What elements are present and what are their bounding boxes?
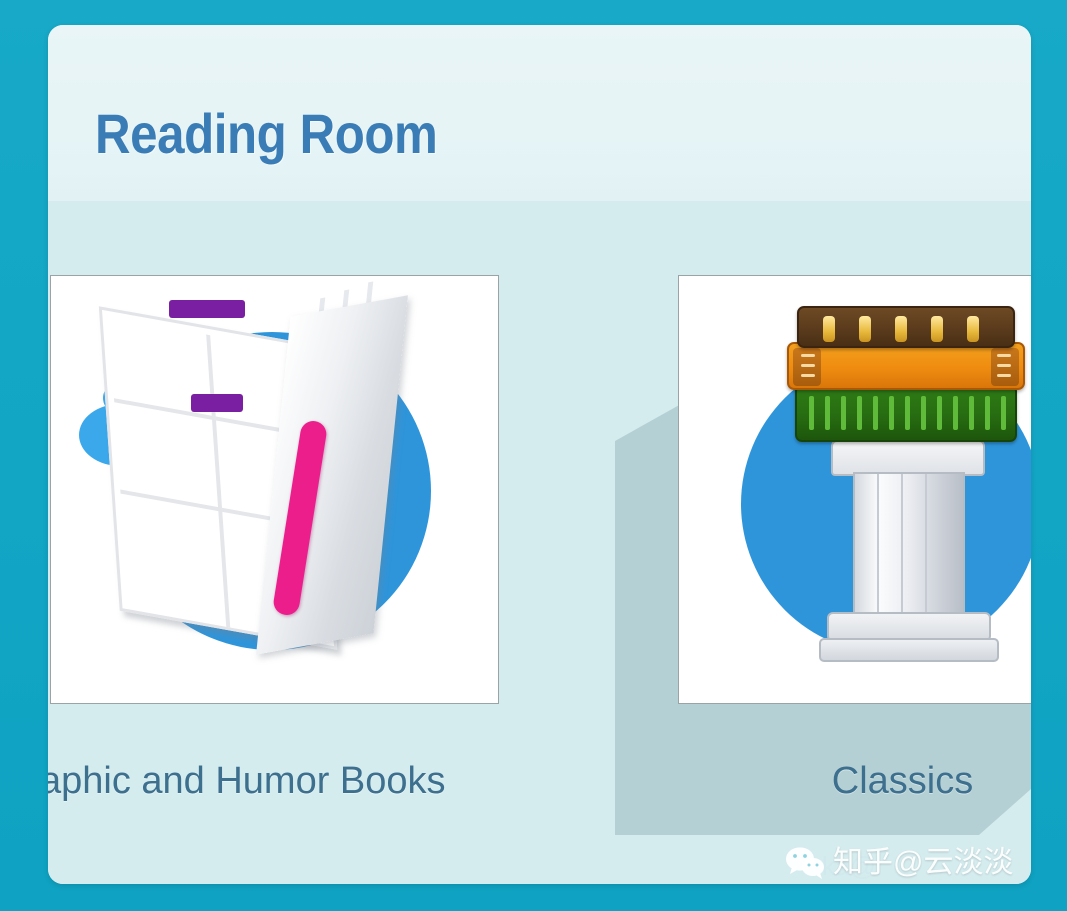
books-on-column-icon[interactable] (678, 275, 1031, 704)
text-highlight-mark (191, 394, 243, 412)
column-plinth (819, 638, 999, 662)
page-title: Reading Room (95, 105, 437, 163)
reading-room-panel: Reading Room (48, 25, 1031, 884)
comic-book-speech-bubbles-icon[interactable] (50, 275, 499, 704)
app-root: Reading Room (0, 0, 1067, 911)
column-flute (901, 474, 903, 622)
column-flute (877, 474, 879, 622)
book-tile-classics[interactable]: Classics (678, 275, 1031, 802)
column-shaft (853, 472, 965, 620)
panel-divider (206, 335, 230, 628)
book-brown-icon (797, 306, 1015, 348)
book-tile-caption: Classics (678, 760, 1031, 802)
book-green-icon (795, 384, 1017, 442)
column-capital (831, 440, 985, 476)
panel-header: Reading Room (48, 25, 1031, 201)
book-orange-icon (787, 342, 1025, 390)
column-flute (947, 474, 949, 622)
column-flute (925, 474, 927, 622)
text-highlight-mark (169, 300, 245, 318)
book-tile-graphic-humor[interactable]: aphic and Humor Books (50, 275, 499, 802)
book-tile-caption: aphic and Humor Books (48, 760, 499, 802)
panel-body: aphic and Humor Books (48, 201, 1031, 884)
